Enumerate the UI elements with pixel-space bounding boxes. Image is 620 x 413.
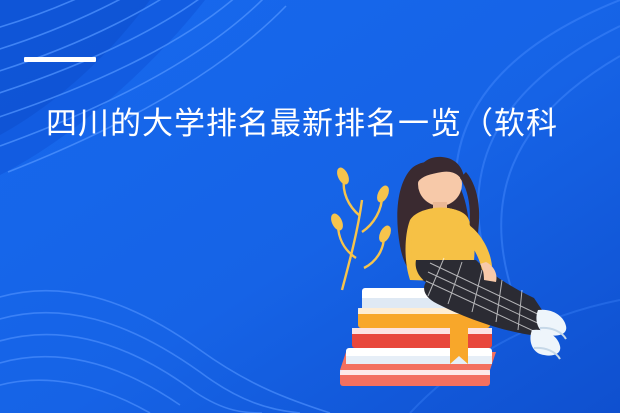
poster-image: 四川的大学排名最新排名一览（软科 xyxy=(0,0,620,413)
illustration-woman-on-books xyxy=(300,120,620,413)
title-underline xyxy=(24,57,96,62)
plant-sprig xyxy=(338,178,384,290)
